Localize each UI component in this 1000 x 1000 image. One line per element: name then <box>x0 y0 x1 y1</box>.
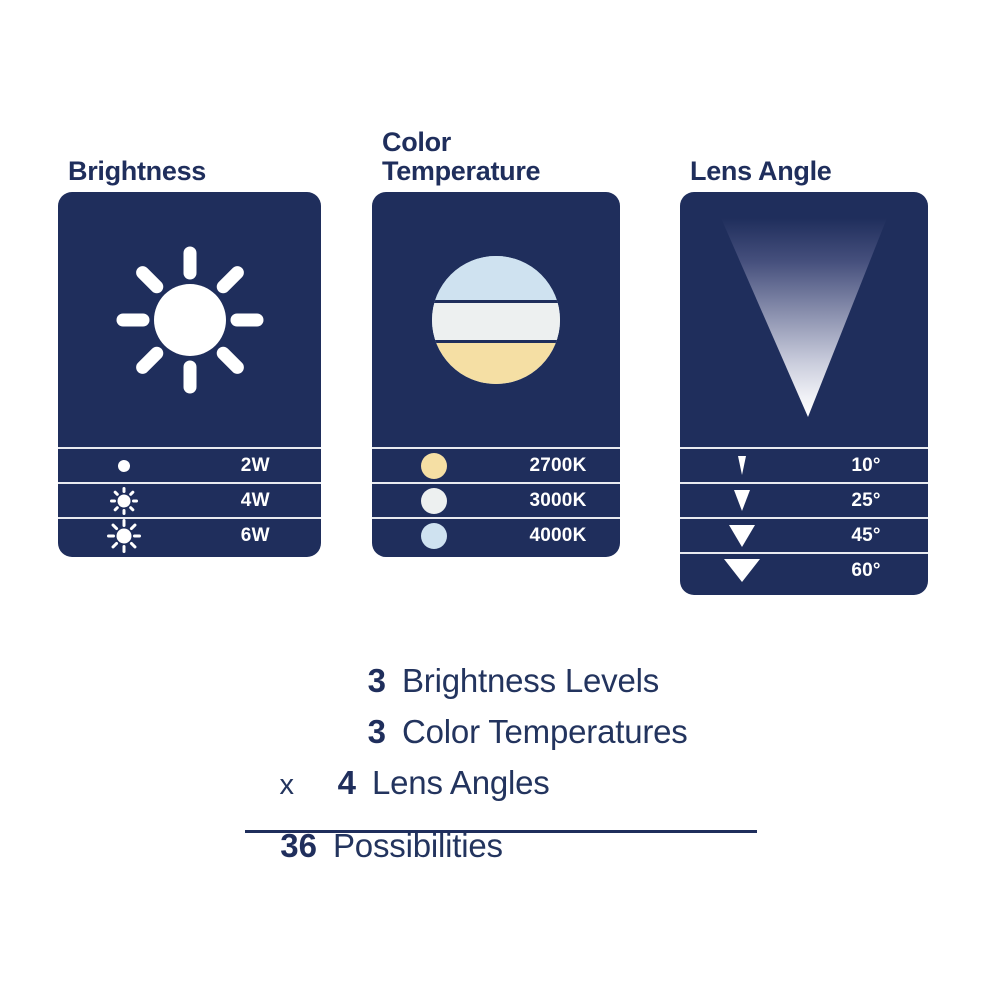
warm-dot-icon <box>421 453 447 479</box>
narrow-beam-icon <box>738 456 746 475</box>
card-title-color-temperature: Color Temperature <box>382 128 540 186</box>
sun-ray <box>183 360 196 393</box>
lens-icon-cell <box>680 554 804 587</box>
brightness-label-4w: 4W <box>190 490 322 512</box>
summary-label-brightness: Brightness Levels <box>386 662 659 700</box>
sun-ray <box>116 313 149 326</box>
summary-equation: 3 Brightness Levels 3 Color Temperatures… <box>0 662 1000 878</box>
summary-count-lens-angle: 4 <box>296 764 356 802</box>
small-sun-icon <box>109 486 139 516</box>
card-title-brightness: Brightness <box>68 157 206 186</box>
summary-count-color-temperature: 3 <box>326 713 386 751</box>
brightness-icon-cell <box>58 519 190 552</box>
brightness-icon-cell <box>58 449 190 482</box>
lens-angle-options: 10° 25° 45° <box>680 447 928 587</box>
summary-line-lens-angle: x 4 Lens Angles <box>0 764 1000 815</box>
brightness-option-6w[interactable]: 6W <box>58 517 321 552</box>
neutral-dot-icon <box>421 488 447 514</box>
lens-angle-option-25[interactable]: 25° <box>680 482 928 517</box>
lens-angle-card-body: 10° 25° 45° <box>680 192 928 595</box>
brightness-option-2w[interactable]: 2W <box>58 447 321 482</box>
ct-icon-cell <box>372 449 496 482</box>
widest-beam-icon <box>724 559 760 582</box>
summary-line-color-temperature: 3 Color Temperatures <box>0 713 1000 764</box>
card-lens-angle: Lens Angle <box>680 192 928 595</box>
color-temperature-options: 2700K 3000K 4000K <box>372 447 620 552</box>
ct-icon-cell <box>372 519 496 552</box>
sun-ray <box>214 263 247 296</box>
card-brightness: Brightness <box>58 192 321 557</box>
lens-angle-option-10[interactable]: 10° <box>680 447 928 482</box>
ct-band-warm <box>432 343 560 384</box>
summary-multiply-operator: x <box>256 769 296 802</box>
summary-label-lens-angle: Lens Angles <box>356 764 550 802</box>
summary-divider-rule <box>245 830 757 833</box>
lens-label-10: 10° <box>804 455 928 477</box>
lens-label-45: 45° <box>804 525 928 547</box>
ct-label-2700k: 2700K <box>496 455 620 477</box>
color-temperature-option-2700k[interactable]: 2700K <box>372 447 620 482</box>
dot-icon <box>118 460 130 472</box>
infographic-canvas: Brightness <box>0 0 1000 1000</box>
color-temperature-card-body: 2700K 3000K 4000K <box>372 192 620 557</box>
summary-line-total: 36 Possibilities <box>0 827 1000 878</box>
lens-icon-cell <box>680 519 804 552</box>
brightness-hero <box>58 192 321 447</box>
medium-beam-icon <box>734 490 750 511</box>
sun-ray <box>230 313 263 326</box>
brightness-option-4w[interactable]: 4W <box>58 482 321 517</box>
color-temperature-option-4000k[interactable]: 4000K <box>372 517 620 552</box>
lens-angle-hero <box>680 192 928 447</box>
summary-label-color-temperature: Color Temperatures <box>386 713 688 751</box>
lens-angle-option-60[interactable]: 60° <box>680 552 928 587</box>
brightness-card-body: 2W <box>58 192 321 557</box>
brightness-icon-cell <box>58 484 190 517</box>
color-temperature-hero <box>372 192 620 447</box>
lens-label-25: 25° <box>804 490 928 512</box>
card-title-lens-angle: Lens Angle <box>690 157 832 186</box>
color-temperature-option-3000k[interactable]: 3000K <box>372 482 620 517</box>
ct-label-3000k: 3000K <box>496 490 620 512</box>
card-color-temperature: Color Temperature 2700K <box>372 192 620 557</box>
lens-icon-cell <box>680 449 804 482</box>
sun-disc <box>154 284 226 356</box>
color-temperature-circle-icon <box>432 256 560 384</box>
sun-ray <box>214 344 247 377</box>
ct-icon-cell <box>372 484 496 517</box>
ct-label-4000k: 4000K <box>496 525 620 547</box>
summary-line-brightness: 3 Brightness Levels <box>0 662 1000 713</box>
summary-count-brightness: 3 <box>326 662 386 700</box>
brightness-label-6w: 6W <box>190 525 322 547</box>
cool-dot-icon <box>421 523 447 549</box>
lens-label-60: 60° <box>804 560 928 582</box>
lens-angle-option-45[interactable]: 45° <box>680 517 928 552</box>
sun-ray <box>183 246 196 279</box>
beam-cone-icon <box>680 192 928 447</box>
wide-beam-icon <box>729 525 755 547</box>
ct-band-cool <box>432 256 560 300</box>
beam-cone-svg <box>709 212 899 427</box>
sun-icon <box>115 245 265 395</box>
brightness-label-2w: 2W <box>190 455 322 477</box>
sun-ray <box>133 344 166 377</box>
lens-icon-cell <box>680 484 804 517</box>
brightness-options: 2W <box>58 447 321 552</box>
ct-band-neutral <box>432 303 560 340</box>
medium-sun-icon <box>106 518 142 554</box>
sun-ray <box>133 263 166 296</box>
